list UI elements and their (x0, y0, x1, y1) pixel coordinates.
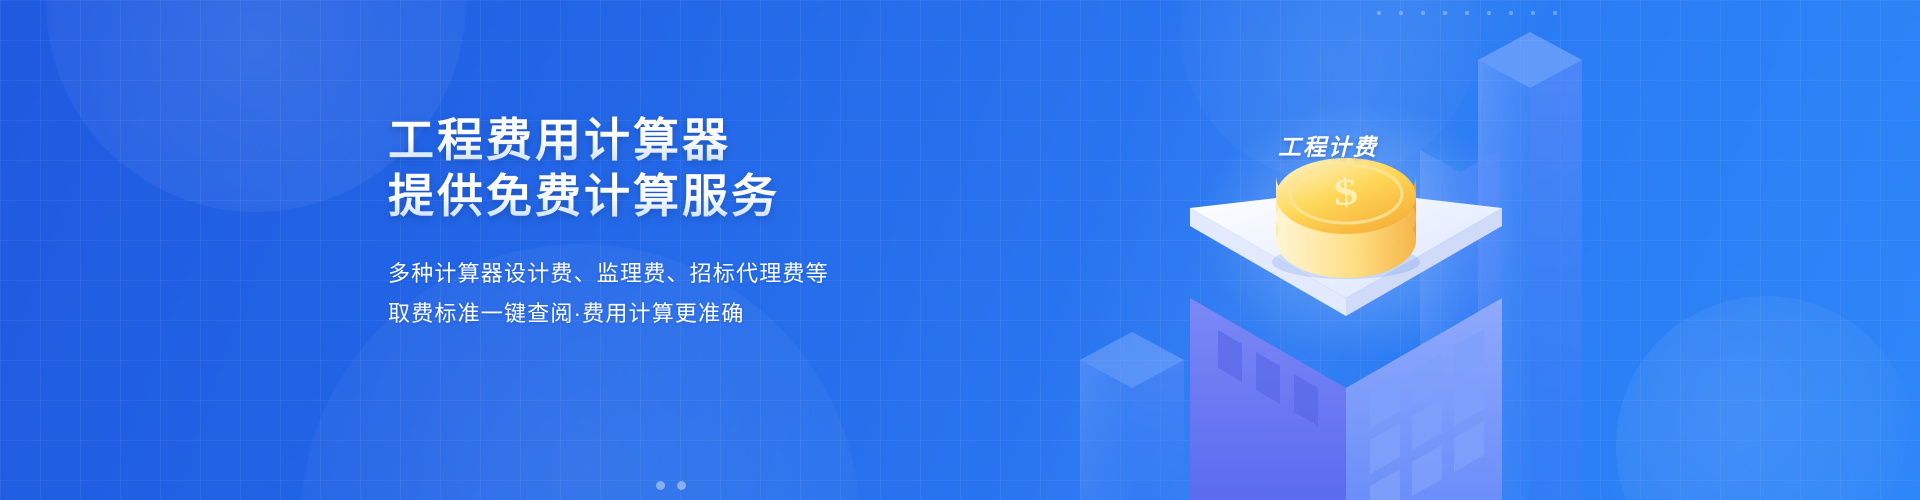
decorative-circle-bottom-right (1616, 296, 1916, 500)
carousel-dots[interactable] (656, 481, 686, 490)
svg-text:$: $ (1332, 171, 1359, 213)
subtitle-line-2: 取费标准一键查阅·费用计算更准确 (388, 294, 1028, 334)
hero-illustration: $ 工程计费 (1060, 0, 1620, 500)
headline-line-2: 提供免费计算服务 (388, 168, 1028, 224)
hero-banner: 工程费用计算器 提供免费计算服务 多种计算器设计费、监理费、招标代理费等 取费标… (0, 0, 1920, 500)
carousel-dot-1[interactable] (656, 481, 665, 490)
headline-line-1: 工程费用计算器 (388, 112, 1028, 168)
illustration-label: 工程计费 (1278, 128, 1378, 162)
carousel-dot-2[interactable] (677, 481, 686, 490)
subtitle-line-1: 多种计算器设计费、监理费、招标代理费等 (388, 254, 1028, 294)
banner-copy: 工程费用计算器 提供免费计算服务 多种计算器设计费、监理费、招标代理费等 取费标… (388, 112, 1028, 334)
gold-coin-stack: $ (1272, 158, 1420, 279)
